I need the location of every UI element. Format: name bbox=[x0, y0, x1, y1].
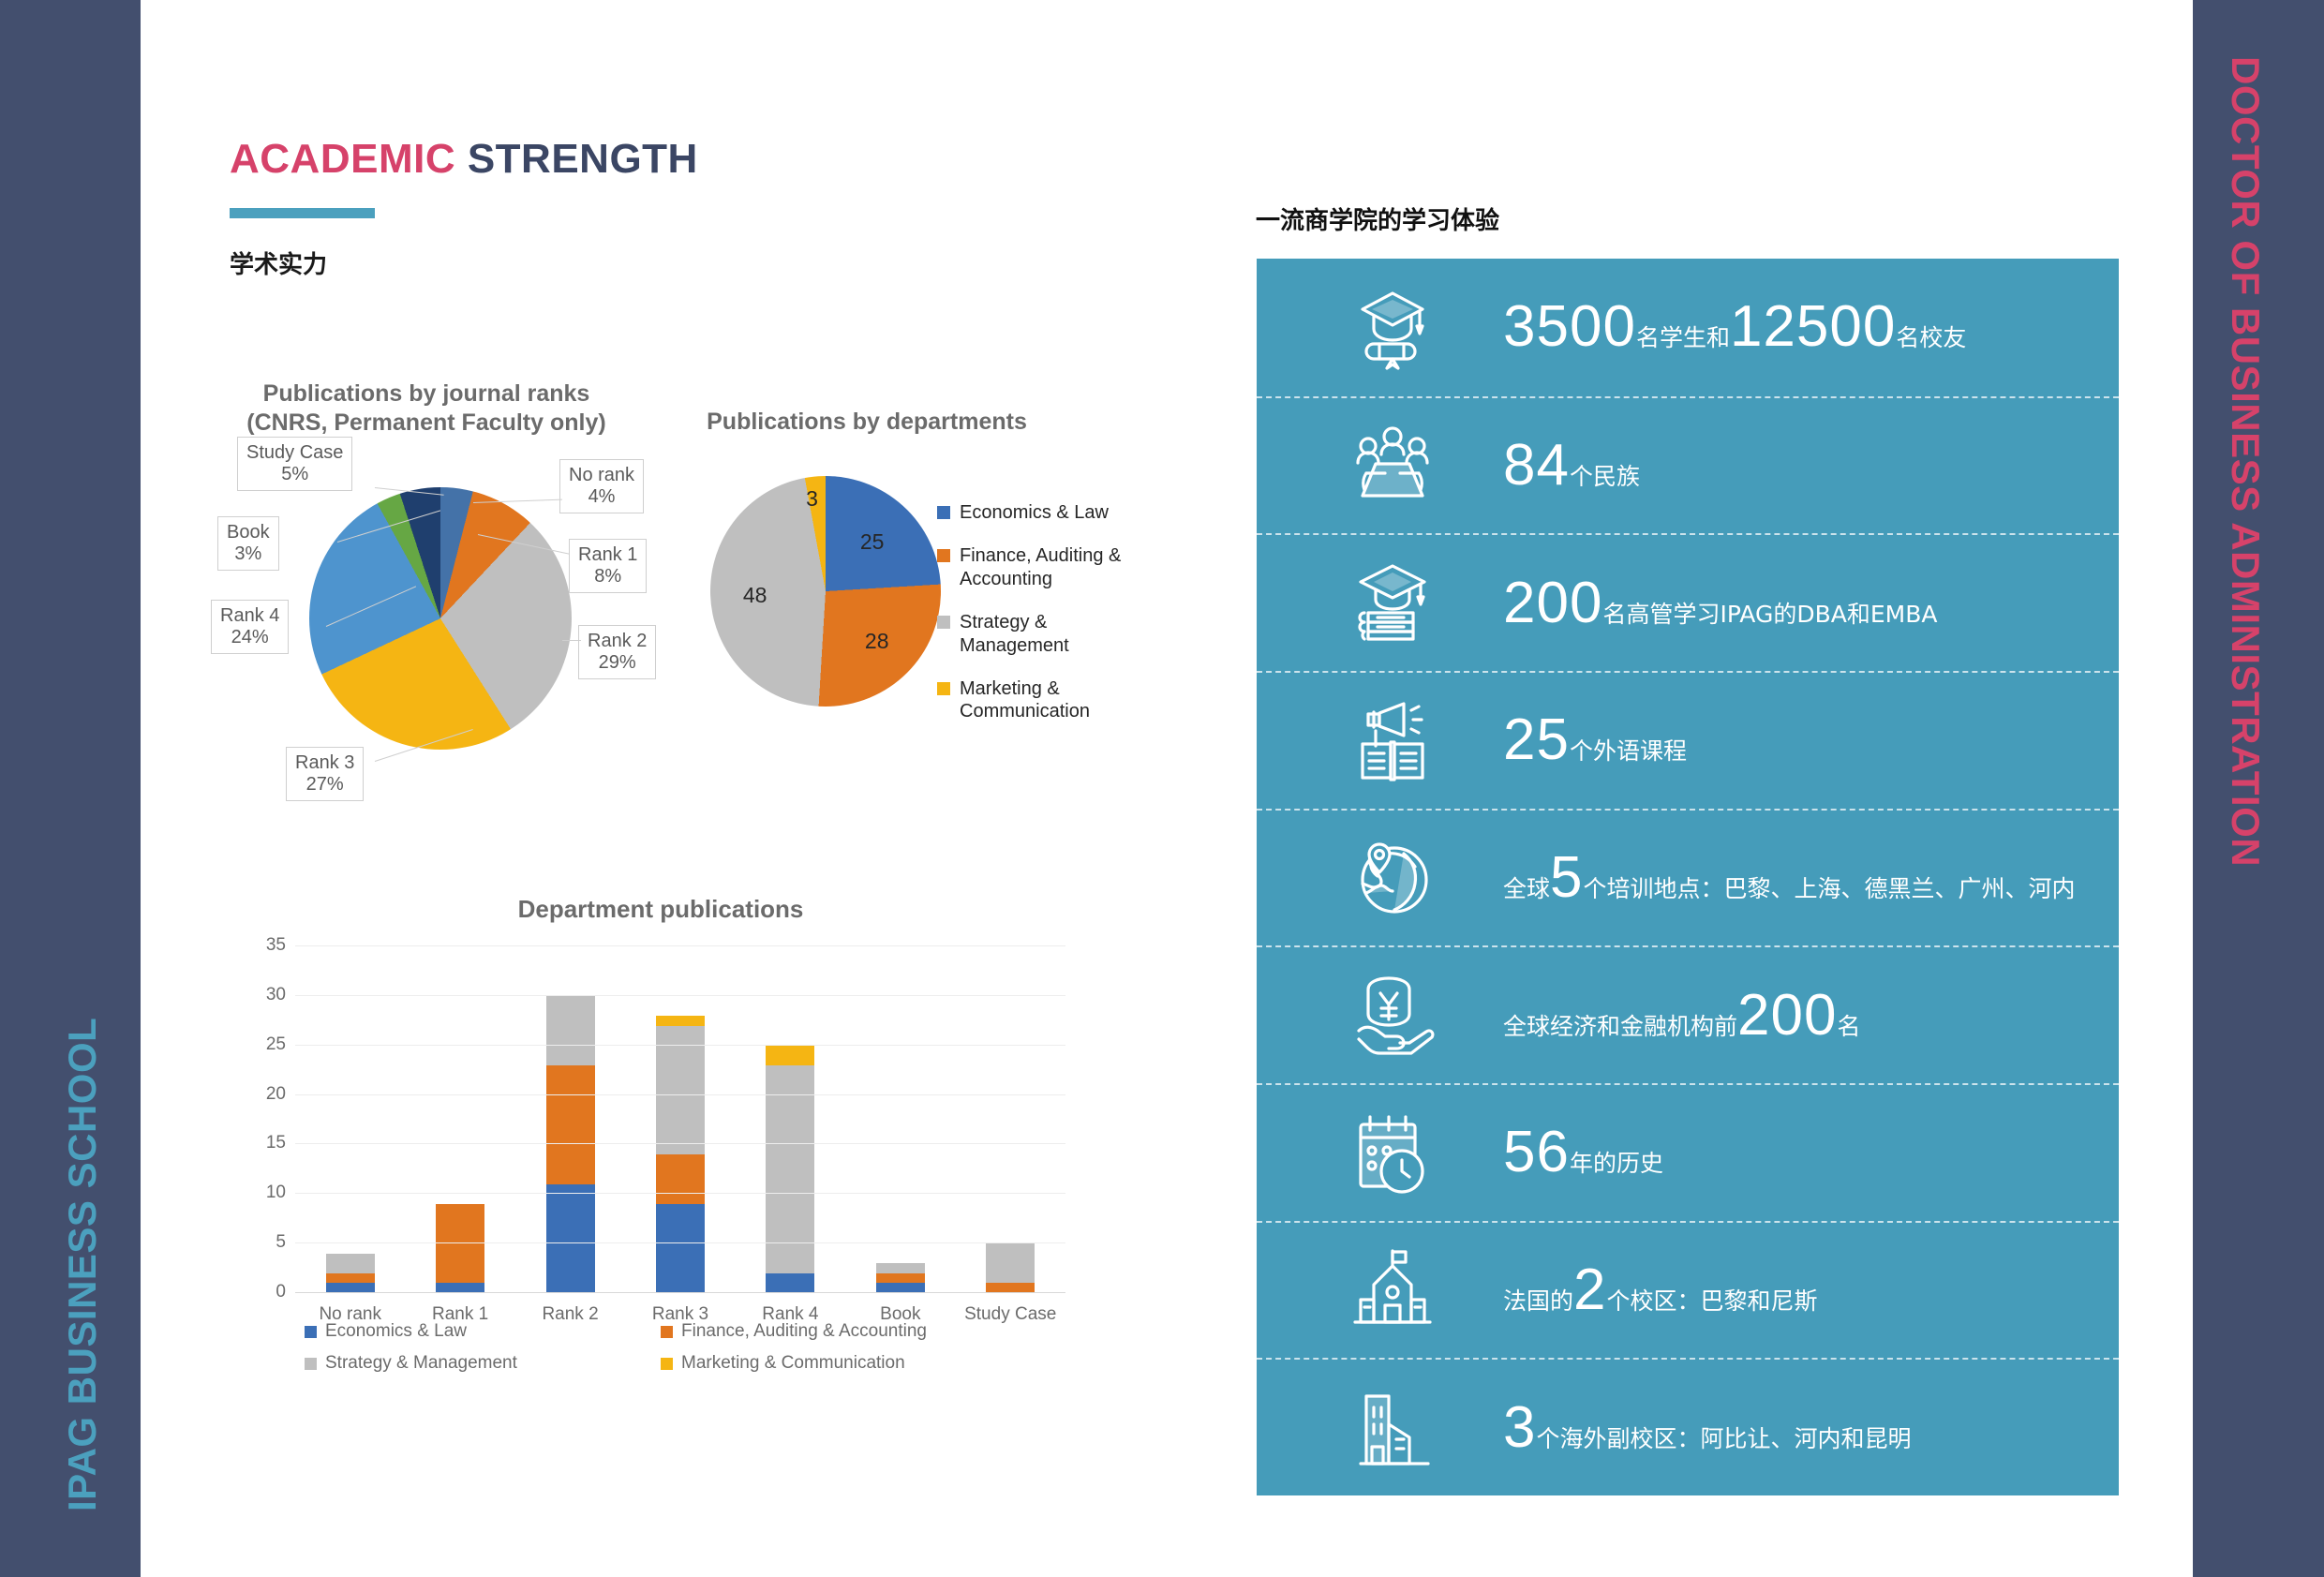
y-axis-tick: 20 bbox=[266, 1084, 286, 1105]
bar-chart-legend: Economics & Law Finance, Auditing & Acco… bbox=[305, 1321, 1017, 1385]
bar-segment bbox=[656, 1016, 705, 1026]
page-title-rest: STRENGTH bbox=[455, 136, 698, 182]
y-axis-tick: 10 bbox=[266, 1183, 286, 1203]
callout-study-case: Study Case 5% bbox=[237, 437, 352, 491]
callout-no-rank-label: No rank bbox=[569, 465, 634, 486]
legend-item: Finance, Auditing & Accounting bbox=[937, 544, 1153, 590]
legend-item: Strategy & Management bbox=[305, 1353, 661, 1374]
legend-swatch-economics bbox=[305, 1326, 317, 1338]
people-at-table-icon bbox=[1336, 419, 1449, 513]
stats-row-text: 全球5个培训地点：巴黎、上海、德黑兰、广州、河内 bbox=[1503, 849, 2076, 907]
graduation-cap-diploma-icon bbox=[1336, 280, 1449, 374]
callout-rank2-label: Rank 2 bbox=[588, 631, 647, 652]
stat-number: 3 bbox=[1503, 1399, 1536, 1457]
legend-item: Strategy & Management bbox=[937, 611, 1153, 657]
stats-row: 200名高管学习IPAG的DBA和EMBA bbox=[1257, 533, 2119, 671]
stats-row: 84个民族 bbox=[1257, 396, 2119, 534]
legend-swatch-strategy bbox=[305, 1358, 317, 1370]
legend-item: Economics & Law bbox=[305, 1321, 661, 1342]
stat-caption: 名学生和 bbox=[1636, 326, 1730, 350]
gridline: 0 bbox=[295, 1292, 1065, 1293]
callout-study-case-value: 5% bbox=[246, 464, 343, 485]
pie1-title: Publications by journal ranks (CNRS, Per… bbox=[216, 379, 637, 439]
legend-label-strategy: Strategy & Management bbox=[325, 1353, 517, 1374]
office-building-icon bbox=[1336, 1381, 1449, 1475]
stat-number: 12500 bbox=[1730, 298, 1896, 356]
callout-rank2-value: 29% bbox=[588, 652, 647, 674]
stacked-bar bbox=[656, 1016, 705, 1293]
bar-segment bbox=[436, 1204, 484, 1284]
stats-row: 3500名学生和12500名校友 bbox=[1257, 259, 2119, 396]
stat-number: 200 bbox=[1503, 574, 1602, 632]
legend-swatch-marketing bbox=[661, 1358, 673, 1370]
stats-row-text: 25个外语课程 bbox=[1503, 711, 1687, 769]
stat-number: 2 bbox=[1573, 1261, 1606, 1319]
bar-segment bbox=[876, 1273, 925, 1284]
y-axis-tick: 35 bbox=[266, 935, 286, 956]
page-title: ACADEMIC STRENGTH bbox=[230, 136, 698, 183]
callout-no-rank: No rank 4% bbox=[559, 459, 644, 513]
yen-in-hand-icon bbox=[1336, 969, 1449, 1063]
pie1-title-line2: (CNRS, Permanent Faculty only) bbox=[216, 409, 637, 438]
gridline: 5 bbox=[295, 1242, 1065, 1243]
legend-item: Finance, Auditing & Accounting bbox=[661, 1321, 1017, 1342]
legend-item: Marketing & Communication bbox=[661, 1353, 1017, 1374]
gridline: 15 bbox=[295, 1143, 1065, 1144]
panel-heading-cn: 一流商学院的学习体验 bbox=[1256, 201, 1499, 236]
stat-number: 5 bbox=[1550, 849, 1583, 907]
page-title-accent: ACADEMIC bbox=[230, 136, 455, 182]
callout-rank3-label: Rank 3 bbox=[295, 752, 354, 774]
stats-row-text: 法国的2个校区：巴黎和尼斯 bbox=[1503, 1261, 1818, 1319]
stat-caption: 个外语课程 bbox=[1570, 739, 1687, 763]
pie2-title: Publications by departments bbox=[656, 408, 1078, 437]
stats-row-text: 3500名学生和12500名校友 bbox=[1503, 298, 1966, 356]
bar-column: Rank 3 bbox=[625, 946, 735, 1293]
callout-book-value: 3% bbox=[227, 543, 270, 565]
gridline: 10 bbox=[295, 1193, 1065, 1194]
y-axis-tick: 0 bbox=[276, 1282, 286, 1302]
cap-on-books-icon bbox=[1336, 557, 1449, 650]
callout-study-case-label: Study Case bbox=[246, 442, 343, 464]
bar-segment bbox=[326, 1254, 375, 1273]
bar-segment bbox=[766, 1046, 814, 1065]
left-sidebar-outer-stripe bbox=[0, 0, 58, 1577]
stat-number: 3500 bbox=[1503, 298, 1636, 356]
right-sidebar-label: DOCTOR OF BUSINESS ADMINISTRATION bbox=[2223, 56, 2268, 867]
megaphone-book-icon bbox=[1336, 693, 1449, 787]
callout-rank2: Rank 2 29% bbox=[578, 625, 656, 679]
stat-caption: 全球 bbox=[1503, 877, 1550, 900]
stat-caption: 名 bbox=[1837, 1015, 1860, 1038]
callout-book: Book 3% bbox=[217, 516, 279, 571]
pie-chart-journal-ranks bbox=[309, 487, 572, 750]
stat-caption: 全球经济和金融机构前 bbox=[1503, 1015, 1737, 1038]
bar-segment bbox=[546, 1065, 595, 1184]
legend-label-marketing: Marketing & Communication bbox=[960, 677, 1153, 723]
callout-no-rank-value: 4% bbox=[569, 486, 634, 508]
stats-row-text: 200名高管学习IPAG的DBA和EMBA bbox=[1503, 574, 1937, 632]
bar-segment bbox=[546, 996, 595, 1065]
bar-segment bbox=[766, 1273, 814, 1293]
title-underline-rule bbox=[230, 208, 375, 218]
pie1-title-line1: Publications by journal ranks bbox=[216, 379, 637, 409]
bar-column: Rank 4 bbox=[736, 946, 845, 1293]
legend-swatch-economics bbox=[937, 506, 950, 519]
gridline: 25 bbox=[295, 1045, 1065, 1046]
bar-segment bbox=[656, 1154, 705, 1204]
stats-row: 25个外语课程 bbox=[1257, 671, 2119, 809]
stat-caption: 个培训地点：巴黎、上海、德黑兰、广州、河内 bbox=[1584, 877, 2076, 900]
left-sidebar-label: IPAG BUSINESS SCHOOL bbox=[60, 1018, 105, 1511]
pie2-legend: Economics & Law Finance, Auditing & Acco… bbox=[937, 501, 1153, 744]
gridline: 20 bbox=[295, 1094, 1065, 1095]
pie2-value-strategy: 48 bbox=[743, 583, 767, 608]
stat-caption: 个校区：巴黎和尼斯 bbox=[1607, 1289, 1818, 1313]
stat-caption: 名高管学习IPAG的DBA和EMBA bbox=[1602, 603, 1937, 626]
stacked-bar bbox=[766, 1046, 814, 1293]
legend-label-finance: Finance, Auditing & Accounting bbox=[960, 544, 1153, 590]
stacked-bar bbox=[876, 1263, 925, 1293]
bar-chart-plot-area: No rankRank 1Rank 2Rank 3Rank 4BookStudy… bbox=[295, 946, 1065, 1293]
stats-row-text: 56年的历史 bbox=[1503, 1123, 1663, 1182]
pie2-value-marketing: 3 bbox=[806, 486, 818, 512]
bar-segment bbox=[326, 1273, 375, 1284]
legend-swatch-finance bbox=[937, 549, 950, 562]
callout-rank4-label: Rank 4 bbox=[220, 605, 279, 627]
legend-swatch-marketing bbox=[937, 682, 950, 695]
stat-caption: 名校友 bbox=[1896, 326, 1966, 350]
legend-label-finance: Finance, Auditing & Accounting bbox=[681, 1321, 927, 1342]
stacked-bar bbox=[326, 1254, 375, 1293]
stats-row: 3个海外副校区：阿比让、河内和昆明 bbox=[1257, 1358, 2119, 1495]
callout-rank1: Rank 1 8% bbox=[569, 539, 647, 593]
stacked-bar bbox=[986, 1243, 1035, 1293]
globe-pin-icon bbox=[1336, 831, 1449, 925]
stats-panel: 3500名学生和12500名校友84个民族200名高管学习IPAG的DBA和EM… bbox=[1257, 259, 2119, 1495]
stats-row: 全球经济和金融机构前200名 bbox=[1257, 945, 2119, 1083]
callout-rank4-value: 24% bbox=[220, 627, 279, 648]
stat-number: 84 bbox=[1503, 437, 1570, 495]
bar-column: Book bbox=[845, 946, 955, 1293]
pie2-value-economics: 25 bbox=[860, 529, 885, 555]
stat-caption: 年的历史 bbox=[1570, 1152, 1663, 1175]
legend-label-strategy: Strategy & Management bbox=[960, 611, 1153, 657]
bar-columns: No rankRank 1Rank 2Rank 3Rank 4BookStudy… bbox=[295, 946, 1065, 1293]
bar-column: Study Case bbox=[956, 946, 1065, 1293]
bar-column: No rank bbox=[295, 946, 405, 1293]
callout-rank1-value: 8% bbox=[578, 566, 637, 588]
stats-row-text: 3个海外副校区：阿比让、河内和昆明 bbox=[1503, 1399, 1912, 1457]
legend-label-marketing: Marketing & Communication bbox=[681, 1353, 905, 1374]
stat-caption: 法国的 bbox=[1503, 1289, 1573, 1313]
bar-column: Rank 2 bbox=[515, 946, 625, 1293]
pie2-value-finance: 28 bbox=[865, 629, 889, 654]
callout-rank3: Rank 3 27% bbox=[286, 747, 364, 801]
bar-segment bbox=[876, 1263, 925, 1273]
stacked-bar bbox=[546, 996, 595, 1293]
bar-chart-department-publications: Department publications No rankRank 1Ran… bbox=[239, 895, 1082, 1363]
page-subtitle-cn: 学术实力 bbox=[230, 245, 327, 280]
legend-label-economics: Economics & Law bbox=[325, 1321, 467, 1342]
gridline: 30 bbox=[295, 995, 1065, 996]
callout-book-label: Book bbox=[227, 522, 270, 543]
legend-row: Strategy & Management Marketing & Commun… bbox=[305, 1353, 1017, 1374]
leader-line bbox=[562, 640, 581, 641]
stat-number: 56 bbox=[1503, 1123, 1570, 1182]
stat-number: 200 bbox=[1737, 987, 1837, 1045]
callout-rank4: Rank 4 24% bbox=[211, 600, 289, 654]
bar-column: Rank 1 bbox=[405, 946, 514, 1293]
legend-swatch-finance bbox=[661, 1326, 673, 1338]
stats-row: 全球5个培训地点：巴黎、上海、德黑兰、广州、河内 bbox=[1257, 809, 2119, 946]
y-axis-tick: 30 bbox=[266, 985, 286, 1005]
y-axis-tick: 25 bbox=[266, 1034, 286, 1055]
legend-label-economics: Economics & Law bbox=[960, 501, 1109, 524]
bar-segment bbox=[546, 1184, 595, 1293]
school-building-icon bbox=[1336, 1243, 1449, 1337]
bar-segment bbox=[986, 1243, 1035, 1283]
gridline: 35 bbox=[295, 945, 1065, 946]
stacked-bar bbox=[436, 1204, 484, 1293]
stats-row: 56年的历史 bbox=[1257, 1083, 2119, 1221]
y-axis-tick: 15 bbox=[266, 1133, 286, 1153]
legend-item: Marketing & Communication bbox=[937, 677, 1153, 723]
calendar-clock-icon bbox=[1336, 1106, 1449, 1199]
legend-item: Economics & Law bbox=[937, 501, 1153, 524]
legend-row: Economics & Law Finance, Auditing & Acco… bbox=[305, 1321, 1017, 1342]
bar-chart-title: Department publications bbox=[239, 895, 1082, 924]
stat-number: 25 bbox=[1503, 711, 1570, 769]
y-axis-tick: 5 bbox=[276, 1232, 286, 1253]
callout-rank3-value: 27% bbox=[295, 774, 354, 796]
stats-row: 法国的2个校区：巴黎和尼斯 bbox=[1257, 1221, 2119, 1359]
callout-rank1-label: Rank 1 bbox=[578, 544, 637, 566]
stat-caption: 个民族 bbox=[1570, 465, 1640, 488]
bar-segment bbox=[656, 1204, 705, 1293]
stat-caption: 个海外副校区：阿比让、河内和昆明 bbox=[1536, 1427, 1911, 1451]
stats-row-text: 全球经济和金融机构前200名 bbox=[1503, 987, 1860, 1045]
stats-row-text: 84个民族 bbox=[1503, 437, 1640, 495]
legend-swatch-strategy bbox=[937, 616, 950, 629]
